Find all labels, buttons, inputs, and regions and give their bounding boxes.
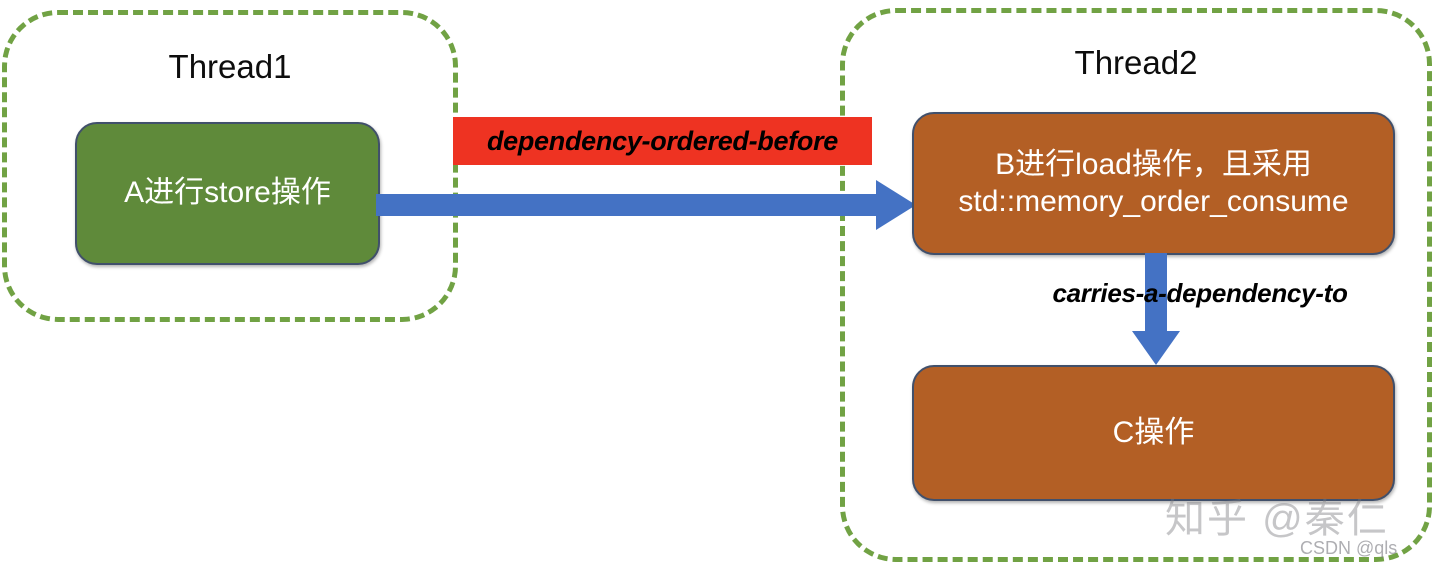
node-b-label-line2: std::memory_order_consume [958,185,1348,218]
node-c-operation[interactable]: C操作 [912,365,1395,501]
label-dependency-ordered-before: dependency-ordered-before [453,117,872,165]
thread2-title: Thread2 [840,44,1432,82]
arrow-dependency-ordered-before [376,170,920,244]
zhihu-watermark: 知乎 @秦仁 [1165,486,1389,544]
label-carries-a-dependency-to: carries-a-dependency-to [1000,278,1400,309]
csdn-watermark: CSDN @qls [1300,538,1397,559]
node-b-label: B进行load操作，且采用 std::memory_order_consume [958,147,1348,220]
node-b-label-line1: B进行load操作，且采用 [995,148,1312,181]
node-b-load-operation[interactable]: B进行load操作，且采用 std::memory_order_consume [912,112,1395,255]
node-c-label: C操作 [1113,415,1195,452]
diagram-canvas: Thread1 Thread2 A进行store操作 dependency-or… [0,0,1440,573]
node-a-store-operation[interactable]: A进行store操作 [75,122,380,265]
thread1-title: Thread1 [2,48,458,86]
label-dependency-ordered-before-text: dependency-ordered-before [487,126,838,157]
arrow-carries-a-dependency-to [1120,253,1192,369]
node-a-label: A进行store操作 [124,175,331,212]
